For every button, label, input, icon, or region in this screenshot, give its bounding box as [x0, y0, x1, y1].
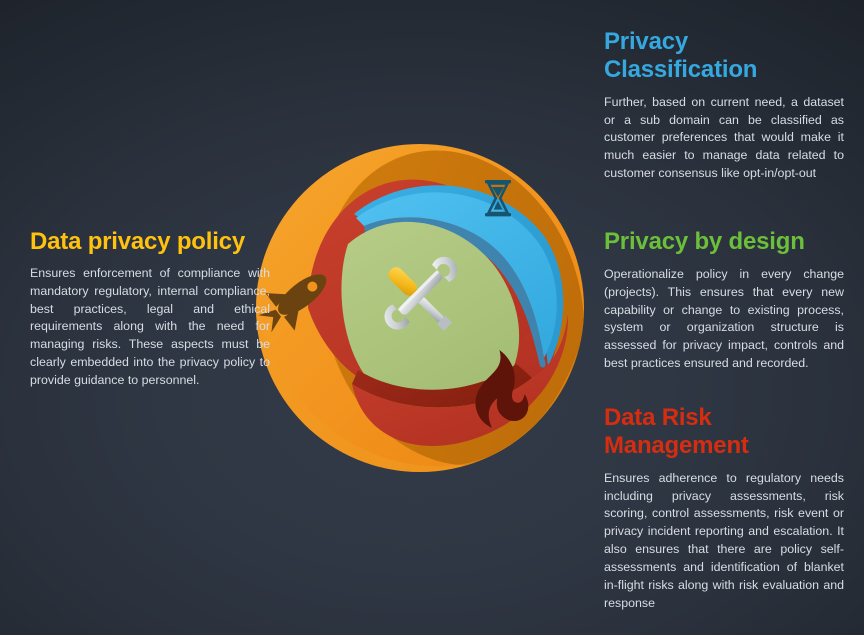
panel-title-data-risk-management: Data Risk Management [604, 404, 844, 460]
slide-canvas: Data privacy policy Ensures enforcement … [0, 0, 864, 635]
panel-privacy-classification: Privacy Classification Further, based on… [604, 28, 844, 183]
panel-title-data-privacy-policy: Data privacy policy [30, 228, 270, 256]
panel-data-risk-management: Data Risk Management Ensures adherence t… [604, 404, 844, 613]
panel-body-data-privacy-policy: Ensures enforcement of compliance with m… [30, 265, 270, 390]
panel-title-privacy-by-design: Privacy by design [604, 228, 844, 256]
panel-body-data-risk-management: Ensures adherence to regulatory needs in… [604, 470, 844, 613]
panel-data-privacy-policy: Data privacy policy Ensures enforcement … [30, 228, 270, 390]
panel-privacy-by-design: Privacy by design Operationalize policy … [604, 228, 844, 373]
panel-body-privacy-classification: Further, based on current need, a datase… [604, 94, 844, 183]
panel-body-privacy-by-design: Operationalize policy in every change (p… [604, 266, 844, 373]
cutaway-sphere-diagram [248, 118, 592, 512]
panel-title-privacy-classification: Privacy Classification [604, 28, 844, 84]
